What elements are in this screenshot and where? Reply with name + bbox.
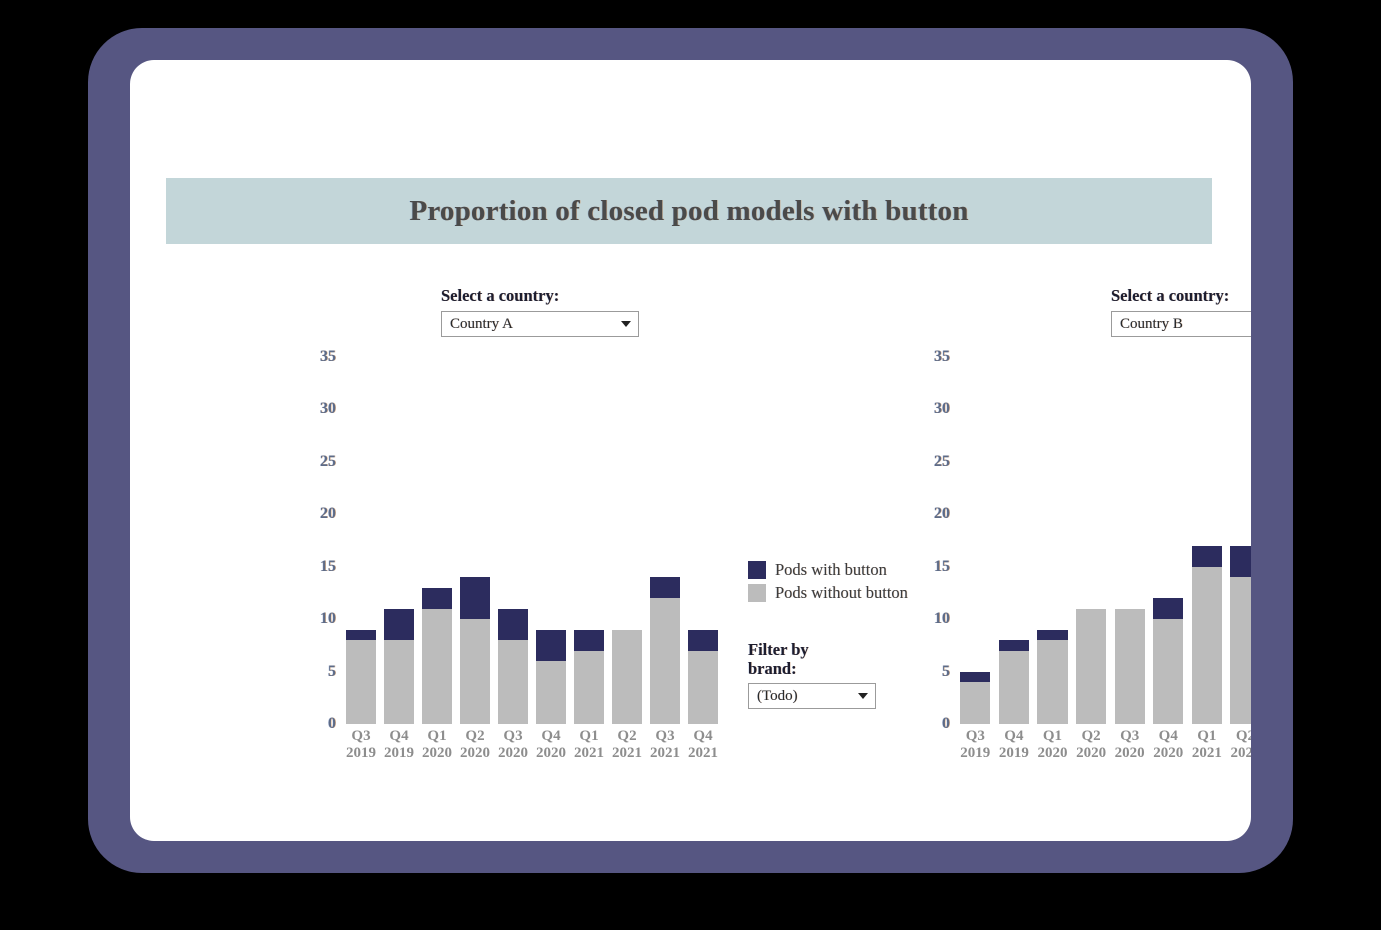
brand-filter-select[interactable]: (Todo): [748, 683, 876, 709]
y-axis-right: 05101520253035: [916, 336, 950, 724]
legend-swatch-without-button: [748, 584, 766, 602]
x-axis-tick-right: Q22021: [1226, 728, 1251, 762]
bar-segment-without-button[interactable]: [1037, 640, 1067, 724]
bar-segment-with-button[interactable]: [460, 577, 490, 619]
bar-segment-without-button[interactable]: [1115, 609, 1145, 724]
bar-segment-with-button[interactable]: [1230, 546, 1251, 577]
bar-segment-without-button[interactable]: [1230, 577, 1251, 724]
device-frame: Proportion of closed pod models with but…: [88, 28, 1293, 873]
bar-column[interactable]: [456, 336, 494, 724]
bar-column[interactable]: [1072, 336, 1111, 724]
bar-segment-without-button[interactable]: [612, 630, 642, 724]
chevron-down-icon: [858, 693, 868, 699]
bar-segment-with-button[interactable]: [498, 609, 528, 640]
bar-column[interactable]: [608, 336, 646, 724]
bar-segment-with-button[interactable]: [650, 577, 680, 598]
country-selector-left-group: Select a country: Country A: [441, 286, 639, 337]
x-axis-tick-right: Q42019: [995, 728, 1034, 762]
bar-column[interactable]: [1110, 336, 1149, 724]
x-axis-tick-left: Q32020: [494, 728, 532, 762]
bar-column[interactable]: [532, 336, 570, 724]
y-axis-tick-left: 25: [320, 453, 336, 471]
y-axis-tick-right: 30: [934, 400, 950, 418]
bar-segment-without-button[interactable]: [688, 651, 718, 724]
x-axis-tick-left: Q42020: [532, 728, 570, 762]
y-axis-tick-right: 35: [934, 348, 950, 366]
bar-segment-with-button[interactable]: [422, 588, 452, 609]
bar-column[interactable]: [956, 336, 995, 724]
chevron-down-icon: [621, 321, 631, 327]
bar-segment-without-button[interactable]: [346, 640, 376, 724]
chart-country-a: 05101520253035 Q32019Q42019Q12020Q22020Q…: [302, 336, 722, 766]
y-axis-tick-right: 10: [934, 610, 950, 628]
page-title: Proportion of closed pod models with but…: [409, 195, 968, 228]
brand-filter-value: (Todo): [757, 688, 798, 705]
bar-segment-without-button[interactable]: [960, 682, 990, 724]
bar-segment-without-button[interactable]: [1153, 619, 1183, 724]
bar-segment-with-button[interactable]: [999, 640, 1029, 650]
y-axis-tick-right: 20: [934, 505, 950, 523]
x-axis-tick-left: Q12021: [570, 728, 608, 762]
bar-segment-without-button[interactable]: [536, 661, 566, 724]
bar-column[interactable]: [380, 336, 418, 724]
y-axis-tick-left: 0: [328, 715, 336, 733]
plot-area-left: [342, 336, 722, 724]
bar-segment-with-button[interactable]: [1192, 546, 1222, 567]
x-axis-tick-left: Q42019: [380, 728, 418, 762]
y-axis-tick-right: 25: [934, 453, 950, 471]
y-axis-tick-left: 5: [328, 663, 336, 681]
bar-segment-without-button[interactable]: [999, 651, 1029, 724]
x-axis-tick-left: Q32021: [646, 728, 684, 762]
y-axis-tick-left: 30: [320, 400, 336, 418]
country-selector-left-value: Country A: [450, 316, 513, 333]
x-axis-tick-left: Q32019: [342, 728, 380, 762]
x-axis-tick-right: Q12021: [1188, 728, 1227, 762]
x-axis-tick-right: Q32020: [1110, 728, 1149, 762]
bar-segment-with-button[interactable]: [536, 630, 566, 661]
legend-item[interactable]: Pods with button: [748, 560, 908, 580]
bar-segment-without-button[interactable]: [384, 640, 414, 724]
country-selector-left-label: Select a country:: [441, 286, 639, 306]
x-axis-tick-left: Q22020: [456, 728, 494, 762]
plot-area-right: [956, 336, 1251, 724]
brand-filter-label: Filter by brand:: [748, 640, 844, 678]
chart-legend: Pods with buttonPods without button: [748, 560, 908, 606]
y-axis-tick-left: 10: [320, 610, 336, 628]
bar-segment-with-button[interactable]: [384, 609, 414, 640]
bar-series-right: [956, 336, 1251, 724]
legend-item[interactable]: Pods without button: [748, 583, 908, 603]
x-axis-right: Q32019Q42019Q12020Q22020Q32020Q42020Q120…: [956, 728, 1251, 762]
bar-segment-with-button[interactable]: [1153, 598, 1183, 619]
bar-segment-without-button[interactable]: [460, 619, 490, 724]
country-selector-right-value: Country B: [1120, 316, 1183, 333]
y-axis-left: 05101520253035: [302, 336, 336, 724]
bar-segment-without-button[interactable]: [422, 609, 452, 724]
x-axis-left: Q32019Q42019Q12020Q22020Q32020Q42020Q120…: [342, 728, 722, 762]
y-axis-tick-right: 5: [942, 663, 950, 681]
brand-filter-group: Filter by brand: (Todo): [748, 640, 876, 709]
x-axis-tick-right: Q12020: [1033, 728, 1072, 762]
bar-segment-with-button[interactable]: [688, 630, 718, 651]
bar-segment-with-button[interactable]: [346, 630, 376, 640]
bar-column[interactable]: [1149, 336, 1188, 724]
bar-segment-without-button[interactable]: [1076, 609, 1106, 724]
bar-segment-with-button[interactable]: [574, 630, 604, 651]
legend-item-label: Pods without button: [775, 583, 908, 603]
x-axis-tick-right: Q32019: [956, 728, 995, 762]
chart-country-b: 05101520253035 Q32019Q42019Q12020Q22020Q…: [916, 336, 1251, 766]
title-banner: Proportion of closed pod models with but…: [166, 178, 1212, 244]
country-selector-right[interactable]: Country B: [1111, 311, 1251, 337]
bar-series-left: [342, 336, 722, 724]
y-axis-tick-right: 0: [942, 715, 950, 733]
legend-item-label: Pods with button: [775, 560, 887, 580]
bar-column[interactable]: [1033, 336, 1072, 724]
bar-column[interactable]: [995, 336, 1034, 724]
bar-column[interactable]: [646, 336, 684, 724]
bar-segment-without-button[interactable]: [650, 598, 680, 724]
x-axis-tick-right: Q22020: [1072, 728, 1111, 762]
bar-segment-without-button[interactable]: [498, 640, 528, 724]
x-axis-tick-right: Q42020: [1149, 728, 1188, 762]
bar-segment-with-button[interactable]: [1037, 630, 1067, 640]
y-axis-tick-left: 15: [320, 558, 336, 576]
bar-column[interactable]: [684, 336, 722, 724]
bar-segment-without-button[interactable]: [1192, 567, 1222, 724]
bar-column[interactable]: [342, 336, 380, 724]
y-axis-tick-left: 20: [320, 505, 336, 523]
x-axis-tick-left: Q12020: [418, 728, 456, 762]
bar-column[interactable]: [418, 336, 456, 724]
x-axis-tick-left: Q42021: [684, 728, 722, 762]
legend-swatch-with-button: [748, 561, 766, 579]
bar-column[interactable]: [1226, 336, 1251, 724]
y-axis-tick-left: 35: [320, 348, 336, 366]
y-axis-tick-right: 15: [934, 558, 950, 576]
country-selector-right-label: Select a country:: [1111, 286, 1251, 306]
bar-column[interactable]: [494, 336, 532, 724]
country-selector-left[interactable]: Country A: [441, 311, 639, 337]
bar-column[interactable]: [1188, 336, 1227, 724]
bar-segment-without-button[interactable]: [574, 651, 604, 724]
dashboard-card: Proportion of closed pod models with but…: [130, 60, 1251, 841]
x-axis-tick-left: Q22021: [608, 728, 646, 762]
bar-column[interactable]: [570, 336, 608, 724]
bar-segment-with-button[interactable]: [960, 672, 990, 682]
country-selector-right-group: Select a country: Country B: [1111, 286, 1251, 337]
